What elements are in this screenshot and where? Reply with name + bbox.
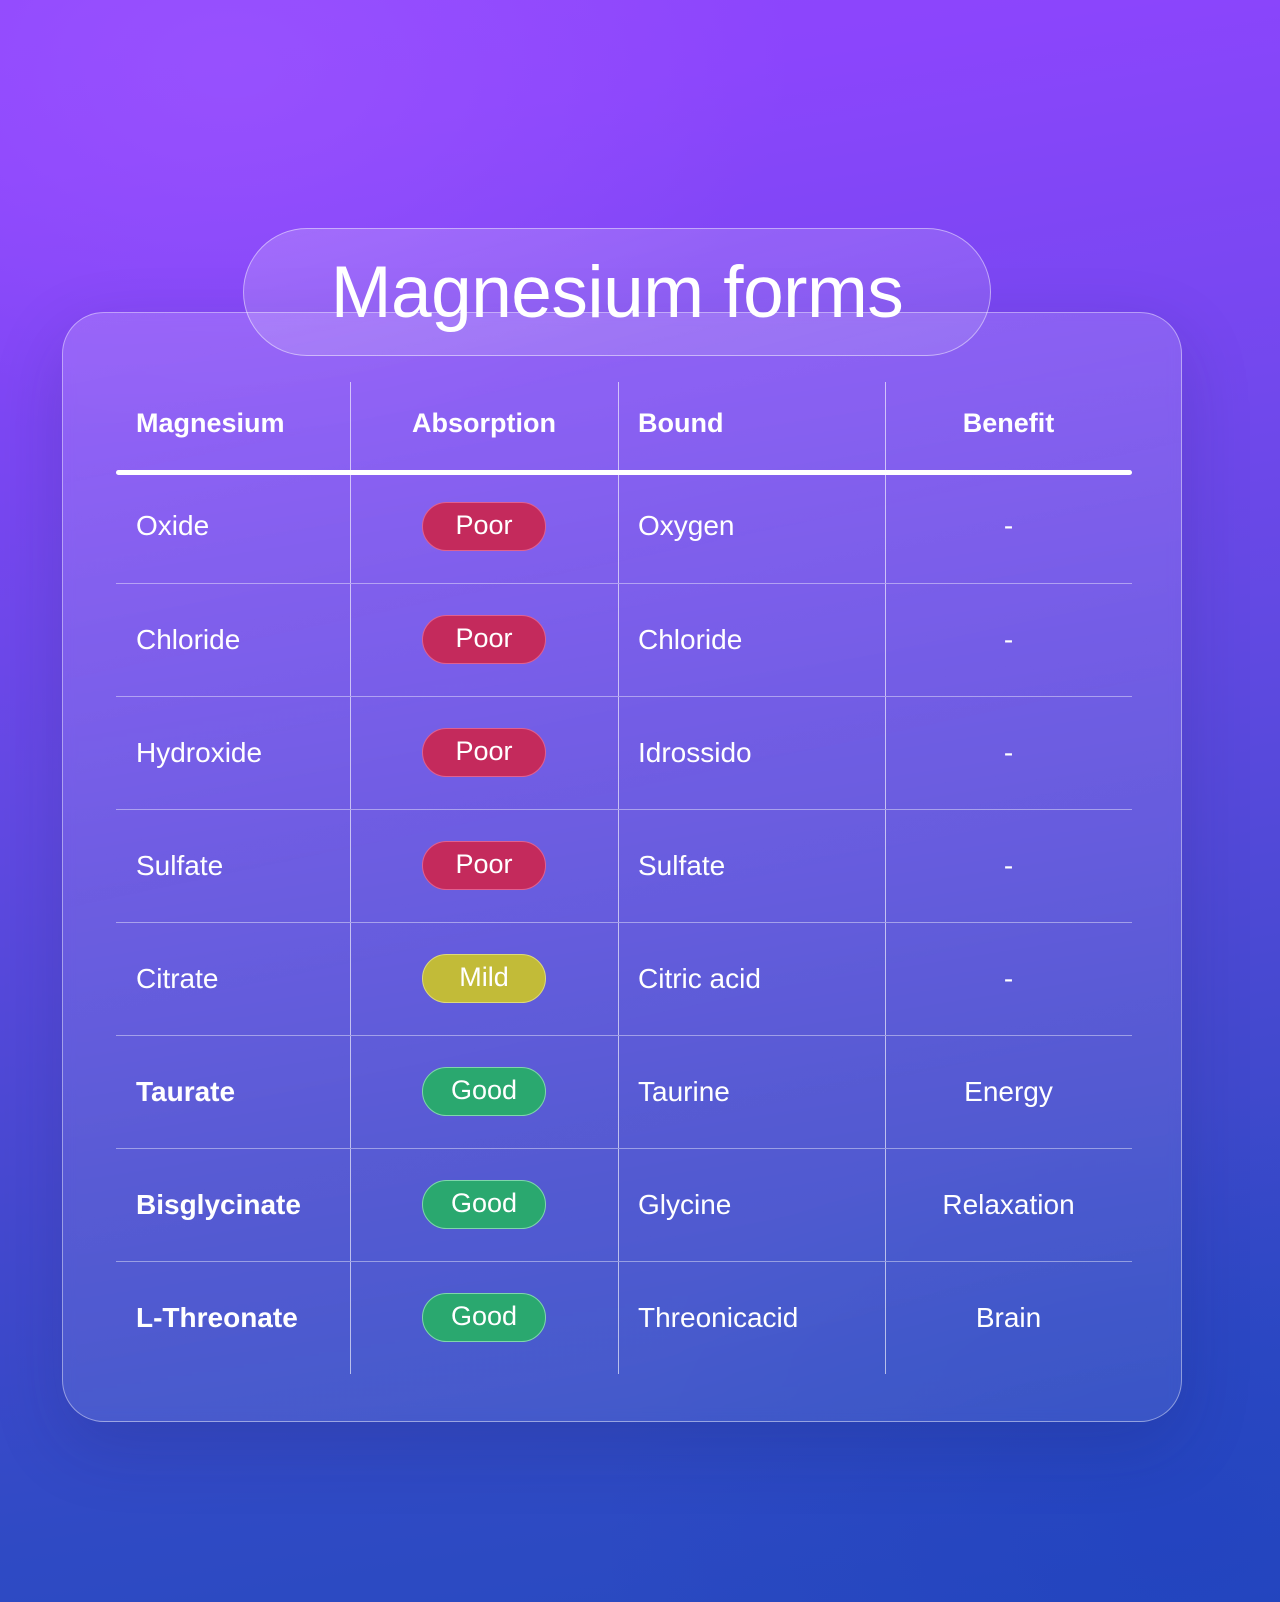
absorption-badge-poor: Poor	[422, 728, 546, 777]
table-row: CitrateMildCitric acid-	[116, 922, 1132, 1035]
cell-absorption: Poor	[350, 583, 618, 696]
table-row: SulfatePoorSulfate-	[116, 809, 1132, 922]
cell-absorption: Good	[350, 1148, 618, 1261]
cell-absorption: Poor	[350, 470, 618, 583]
cell-absorption: Mild	[350, 922, 618, 1035]
absorption-badge-poor: Poor	[422, 841, 546, 890]
cell-absorption: Poor	[350, 696, 618, 809]
table-row: ChloridePoorChloride-	[116, 583, 1132, 696]
column-header-bound: Bound	[618, 382, 885, 470]
cell-absorption: Good	[350, 1035, 618, 1148]
cell-benefit: Energy	[885, 1035, 1132, 1148]
cell-benefit: -	[885, 470, 1132, 583]
page-title: Magnesium forms	[331, 256, 904, 329]
table-row: L-ThreonateGoodThreonicacidBrain	[116, 1261, 1132, 1374]
absorption-badge-mild: Mild	[422, 954, 546, 1003]
header-underline	[116, 470, 1132, 475]
column-header-absorption: Absorption	[350, 382, 618, 470]
magnesium-forms-table-container: Magnesium Absorption Bound Benefit Oxide…	[116, 382, 1132, 1374]
table-header-row: Magnesium Absorption Bound Benefit	[116, 382, 1132, 470]
cell-absorption: Poor	[350, 809, 618, 922]
cell-magnesium: Bisglycinate	[116, 1148, 350, 1261]
cell-absorption: Good	[350, 1261, 618, 1374]
cell-bound: Sulfate	[618, 809, 885, 922]
table-row: OxidePoorOxygen-	[116, 470, 1132, 583]
cell-bound: Taurine	[618, 1035, 885, 1148]
cell-magnesium: Chloride	[116, 583, 350, 696]
absorption-badge-poor: Poor	[422, 502, 546, 551]
cell-benefit: -	[885, 583, 1132, 696]
absorption-badge-good: Good	[422, 1180, 546, 1229]
cell-magnesium: Taurate	[116, 1035, 350, 1148]
cell-magnesium: Hydroxide	[116, 696, 350, 809]
cell-benefit: -	[885, 809, 1132, 922]
column-header-benefit: Benefit	[885, 382, 1132, 470]
cell-bound: Oxygen	[618, 470, 885, 583]
cell-bound: Threonicacid	[618, 1261, 885, 1374]
cell-bound: Citric acid	[618, 922, 885, 1035]
table-row: TaurateGoodTaurineEnergy	[116, 1035, 1132, 1148]
absorption-badge-good: Good	[422, 1293, 546, 1342]
table-row: HydroxidePoorIdrossido-	[116, 696, 1132, 809]
table-body: OxidePoorOxygen-ChloridePoorChloride-Hyd…	[116, 470, 1132, 1374]
cell-magnesium: L-Threonate	[116, 1261, 350, 1374]
column-header-magnesium: Magnesium	[116, 382, 350, 470]
table-row: BisglycinateGoodGlycineRelaxation	[116, 1148, 1132, 1261]
table-header: Magnesium Absorption Bound Benefit	[116, 382, 1132, 470]
absorption-badge-poor: Poor	[422, 615, 546, 664]
cell-benefit: -	[885, 696, 1132, 809]
cell-benefit: Brain	[885, 1261, 1132, 1374]
title-badge: Magnesium forms	[243, 228, 991, 356]
cell-magnesium: Citrate	[116, 922, 350, 1035]
cell-bound: Idrossido	[618, 696, 885, 809]
cell-magnesium: Oxide	[116, 470, 350, 583]
absorption-badge-good: Good	[422, 1067, 546, 1116]
cell-benefit: -	[885, 922, 1132, 1035]
magnesium-forms-table: Magnesium Absorption Bound Benefit Oxide…	[116, 382, 1132, 1374]
cell-benefit: Relaxation	[885, 1148, 1132, 1261]
cell-bound: Glycine	[618, 1148, 885, 1261]
cell-bound: Chloride	[618, 583, 885, 696]
cell-magnesium: Sulfate	[116, 809, 350, 922]
